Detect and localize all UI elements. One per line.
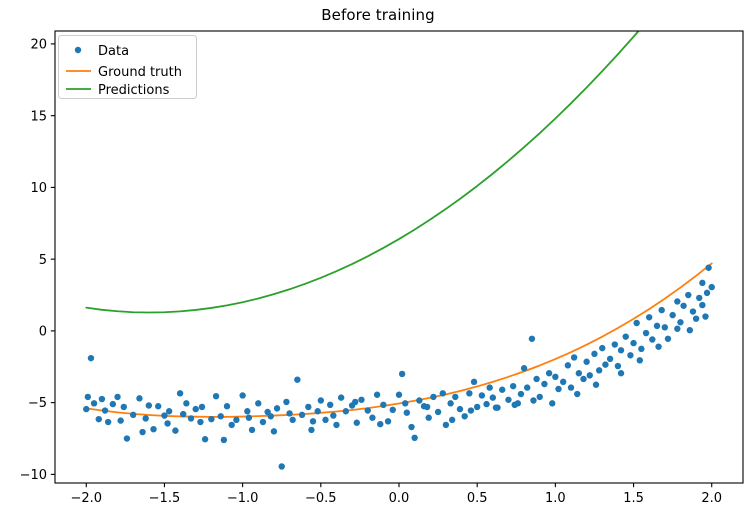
- scatter-point: [369, 415, 375, 421]
- scatter-point: [354, 420, 360, 426]
- scatter-point: [618, 370, 624, 376]
- scatter-point: [490, 394, 496, 400]
- scatter-point: [662, 324, 668, 330]
- scatter-point: [440, 390, 446, 396]
- x-tick-label: 0.0: [389, 491, 410, 506]
- scatter-point: [218, 413, 224, 419]
- scatter-point: [685, 292, 691, 298]
- scatter-point: [524, 384, 530, 390]
- scatter-point: [221, 437, 227, 443]
- scatter-point: [479, 392, 485, 398]
- scatter-point: [193, 406, 199, 412]
- scatter-point: [99, 396, 105, 402]
- matplotlib-figure: Before training −2.0−1.5−1.0−0.50.00.51.…: [0, 0, 756, 528]
- scatter-point: [555, 386, 561, 392]
- scatter-point: [576, 370, 582, 376]
- y-axis-ticks: −10−505101520: [20, 38, 55, 483]
- chart-legend[interactable]: Data Ground truth Predictions: [59, 36, 197, 99]
- x-tick-label: −2.0: [70, 491, 102, 506]
- scatter-point: [627, 352, 633, 358]
- x-tick-label: 2.0: [701, 491, 722, 506]
- scatter-point: [180, 411, 186, 417]
- scatter-point: [110, 401, 116, 407]
- scatter-point: [358, 397, 364, 403]
- scatter-point: [102, 407, 108, 413]
- scatter-point: [658, 307, 664, 313]
- scatter-point: [512, 402, 518, 408]
- scatter-point: [199, 404, 205, 410]
- scatter-point: [583, 359, 589, 365]
- scatter-point: [299, 412, 305, 418]
- scatter-point: [443, 422, 449, 428]
- scatter-point: [541, 381, 547, 387]
- scatter-point: [533, 376, 539, 382]
- scatter-point: [308, 427, 314, 433]
- scatter-point: [457, 406, 463, 412]
- scatter-point: [396, 392, 402, 398]
- scatter-point: [493, 404, 499, 410]
- scatter-point: [699, 302, 705, 308]
- scatter-point: [318, 397, 324, 403]
- scatter-point: [521, 365, 527, 371]
- scatter-point: [587, 372, 593, 378]
- scatter-point: [202, 436, 208, 442]
- scatter-point: [574, 391, 580, 397]
- scatter-point: [699, 280, 705, 286]
- scatter-point: [279, 463, 285, 469]
- scatter-point: [88, 355, 94, 361]
- scatter-point: [224, 403, 230, 409]
- scatter-point: [136, 395, 142, 401]
- scatter-point: [499, 387, 505, 393]
- scatter-point: [130, 412, 136, 418]
- scatter-point: [593, 382, 599, 388]
- x-tick-label: −0.5: [305, 491, 337, 506]
- scatter-point: [690, 308, 696, 314]
- scatter-point: [612, 341, 618, 347]
- scatter-point: [343, 408, 349, 414]
- scatter-point: [537, 394, 543, 400]
- scatter-point: [96, 416, 102, 422]
- scatter-point: [352, 399, 358, 405]
- scatter-point: [435, 409, 441, 415]
- scatter-point: [623, 333, 629, 339]
- scatter-point: [246, 415, 252, 421]
- y-tick-label: −5: [28, 396, 47, 411]
- scatter-point: [404, 409, 410, 415]
- scatter-point: [430, 394, 436, 400]
- scatter-point: [121, 404, 127, 410]
- x-tick-label: 0.5: [467, 491, 488, 506]
- x-tick-label: −1.0: [227, 491, 259, 506]
- scatter-point: [139, 429, 145, 435]
- scatter-point: [483, 401, 489, 407]
- scatter-point: [655, 343, 661, 349]
- scatter-point: [233, 417, 239, 423]
- scatter-point: [571, 354, 577, 360]
- scatter-point: [466, 390, 472, 396]
- scatter-point: [183, 400, 189, 406]
- scatter-point: [172, 427, 178, 433]
- scatter-point: [602, 361, 608, 367]
- scatter-point: [529, 336, 535, 342]
- scatter-point: [155, 403, 161, 409]
- scatter-point: [643, 330, 649, 336]
- scatter-point: [546, 370, 552, 376]
- scatter-point: [486, 384, 492, 390]
- scatter-point: [568, 384, 574, 390]
- scatter-point: [447, 400, 453, 406]
- scatter-point: [255, 400, 261, 406]
- scatter-point: [696, 295, 702, 301]
- scatter-point: [385, 418, 391, 424]
- scatter-point: [380, 402, 386, 408]
- scatter-point: [327, 402, 333, 408]
- scatter-point: [294, 376, 300, 382]
- x-tick-label: 1.0: [545, 491, 566, 506]
- scatter-point: [580, 376, 586, 382]
- scatter-point: [646, 314, 652, 320]
- scatter-point: [268, 413, 274, 419]
- scatter-point: [649, 336, 655, 342]
- scatter-point: [505, 397, 511, 403]
- scatter-point: [702, 313, 708, 319]
- scatter-point: [449, 417, 455, 423]
- y-tick-label: −10: [20, 468, 47, 483]
- y-tick-label: 15: [30, 109, 47, 124]
- scatter-point: [452, 394, 458, 400]
- scatter-point: [260, 419, 266, 425]
- scatter-point: [633, 320, 639, 326]
- scatter-point: [705, 265, 711, 271]
- scatter-point: [638, 346, 644, 352]
- scatter-point: [164, 420, 170, 426]
- x-tick-label: −1.5: [149, 491, 181, 506]
- scatter-point: [552, 374, 558, 380]
- scatter-point: [249, 427, 255, 433]
- scatter-point: [124, 435, 130, 441]
- scatter-point: [244, 408, 250, 414]
- legend-label-ground-truth: Ground truth: [98, 65, 182, 80]
- scatter-point: [615, 363, 621, 369]
- scatter-point: [665, 336, 671, 342]
- scatter-point: [518, 391, 524, 397]
- scatter-point: [390, 407, 396, 413]
- scatter-point: [228, 422, 234, 428]
- x-axis-ticks: −2.0−1.5−1.0−0.50.00.51.01.52.0: [70, 483, 722, 506]
- y-tick-label: 5: [39, 253, 47, 268]
- scatter-point: [161, 412, 167, 418]
- scatter-point: [117, 417, 123, 423]
- scatter-point: [549, 400, 555, 406]
- scatter-point: [330, 412, 336, 418]
- scatter-point: [677, 319, 683, 325]
- scatter-point: [314, 408, 320, 414]
- scatter-point: [687, 327, 693, 333]
- scatter-point: [166, 408, 172, 414]
- scatter-point: [239, 392, 245, 398]
- scatter-point: [637, 357, 643, 363]
- scatter-point: [177, 390, 183, 396]
- scatter-point: [416, 397, 422, 403]
- scatter-point: [565, 362, 571, 368]
- scatter-point: [474, 404, 480, 410]
- scatter-point: [618, 347, 624, 353]
- scatter-point: [114, 394, 120, 400]
- scatter-point: [426, 415, 432, 421]
- scatter-point: [424, 404, 430, 410]
- scatter-point: [305, 404, 311, 410]
- scatter-point: [105, 419, 111, 425]
- y-tick-label: 10: [30, 181, 47, 196]
- scatter-point: [289, 417, 295, 423]
- legend-label-data: Data: [98, 44, 129, 59]
- scatter-point: [530, 397, 536, 403]
- scatter-point: [377, 421, 383, 427]
- y-tick-label: 20: [30, 38, 47, 53]
- scatter-point: [374, 392, 380, 398]
- scatter-point: [510, 383, 516, 389]
- scatter-point: [399, 371, 405, 377]
- scatter-point: [271, 428, 277, 434]
- scatter-point: [591, 351, 597, 357]
- scatter-point: [680, 303, 686, 309]
- scatter-point: [674, 326, 680, 332]
- scatter-point: [461, 413, 467, 419]
- plot-area: −2.0−1.5−1.0−0.50.00.51.01.52.0 −10−5051…: [0, 0, 756, 528]
- scatter-point: [607, 356, 613, 362]
- legend-label-predictions: Predictions: [98, 83, 170, 98]
- scatter-point: [411, 435, 417, 441]
- scatter-point: [91, 400, 97, 406]
- scatter-point: [150, 426, 156, 432]
- scatter-point: [599, 345, 605, 351]
- scatter-point: [704, 290, 710, 296]
- scatter-point: [471, 379, 477, 385]
- scatter-point: [142, 415, 148, 421]
- scatter-point: [286, 410, 292, 416]
- scatter-point: [274, 405, 280, 411]
- scatter-point: [83, 406, 89, 412]
- scatter-point: [333, 422, 339, 428]
- scatter-point: [322, 417, 328, 423]
- scatter-point: [188, 415, 194, 421]
- legend-marker-data: [75, 47, 81, 53]
- y-tick-label: 0: [39, 324, 47, 339]
- scatter-point: [402, 400, 408, 406]
- scatter-point: [674, 298, 680, 304]
- scatter-point: [693, 316, 699, 322]
- scatter-point: [310, 418, 316, 424]
- scatter-point: [596, 367, 602, 373]
- scatter-point: [560, 379, 566, 385]
- scatter-point: [208, 416, 214, 422]
- scatter-point: [146, 402, 152, 408]
- scatter-point: [630, 340, 636, 346]
- scatter-point: [365, 407, 371, 413]
- scatter-point: [654, 323, 660, 329]
- scatter-point: [669, 312, 675, 318]
- scatter-point: [213, 393, 219, 399]
- scatter-point: [338, 394, 344, 400]
- x-tick-label: 1.5: [623, 491, 644, 506]
- scatter-point: [408, 424, 414, 430]
- scatter-point: [468, 407, 474, 413]
- scatter-point: [197, 419, 203, 425]
- scatter-point: [85, 394, 91, 400]
- scatter-point: [283, 399, 289, 405]
- scatter-point: [709, 284, 715, 290]
